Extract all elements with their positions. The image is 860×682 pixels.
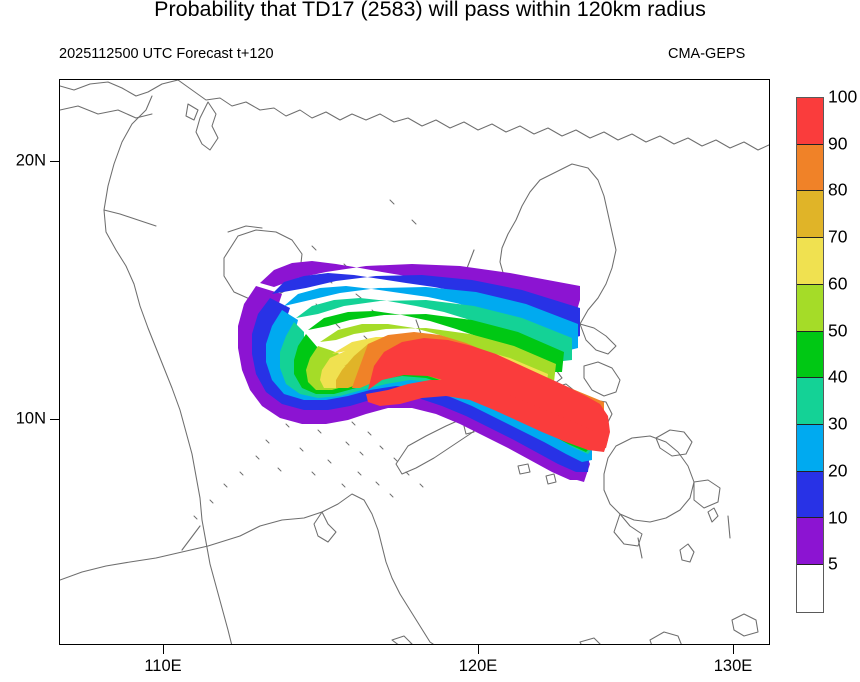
colorbar-band-80 xyxy=(797,191,823,238)
forecast-timestamp-label: 2025112500 UTC Forecast t+120 xyxy=(59,46,274,62)
colorbar-tick-40: 40 xyxy=(828,367,847,388)
x-tick-120e xyxy=(478,645,479,654)
colorbar-tick-80: 80 xyxy=(828,180,847,201)
colorbar-band-70 xyxy=(797,238,823,285)
x-tick-label-110e: 110E xyxy=(144,657,181,676)
probability-contour-layer xyxy=(238,261,610,482)
probability-colorbar xyxy=(796,97,824,613)
colorbar-band-20 xyxy=(797,472,823,519)
model-source-label: CMA-GEPS xyxy=(668,46,745,62)
colorbar-band-40 xyxy=(797,378,823,425)
y-tick-label-20n: 20N xyxy=(0,152,46,171)
x-tick-130e xyxy=(733,645,734,654)
y-tick-label-10n: 10N xyxy=(0,410,46,429)
colorbar-band-5 xyxy=(797,565,823,612)
colorbar-band-50 xyxy=(797,332,823,379)
x-tick-label-120e: 120E xyxy=(459,657,498,676)
colorbar-tick-50: 50 xyxy=(828,320,847,341)
colorbar-tick-30: 30 xyxy=(828,414,847,435)
x-tick-110e xyxy=(163,645,164,654)
colorbar-band-100 xyxy=(797,98,823,145)
map-canvas xyxy=(60,80,770,645)
y-tick-10n xyxy=(50,419,59,420)
colorbar-tick-20: 20 xyxy=(828,460,847,481)
colorbar-tick-10: 10 xyxy=(828,507,847,528)
y-tick-20n xyxy=(50,161,59,162)
colorbar-band-10 xyxy=(797,518,823,565)
colorbar-band-90 xyxy=(797,145,823,192)
colorbar-band-30 xyxy=(797,425,823,472)
colorbar-tick-90: 90 xyxy=(828,133,847,154)
forecast-map-page: Probability that TD17 (2583) will pass w… xyxy=(0,0,860,682)
colorbar-tick-100: 100 xyxy=(828,87,857,108)
page-title: Probability that TD17 (2583) will pass w… xyxy=(0,0,860,22)
colorbar-tick-70: 70 xyxy=(828,227,847,248)
map-plot-area xyxy=(59,79,770,645)
colorbar-band-60 xyxy=(797,285,823,332)
colorbar-tick-60: 60 xyxy=(828,273,847,294)
x-tick-label-130e: 130E xyxy=(714,657,753,676)
colorbar-tick-5: 5 xyxy=(828,554,838,575)
